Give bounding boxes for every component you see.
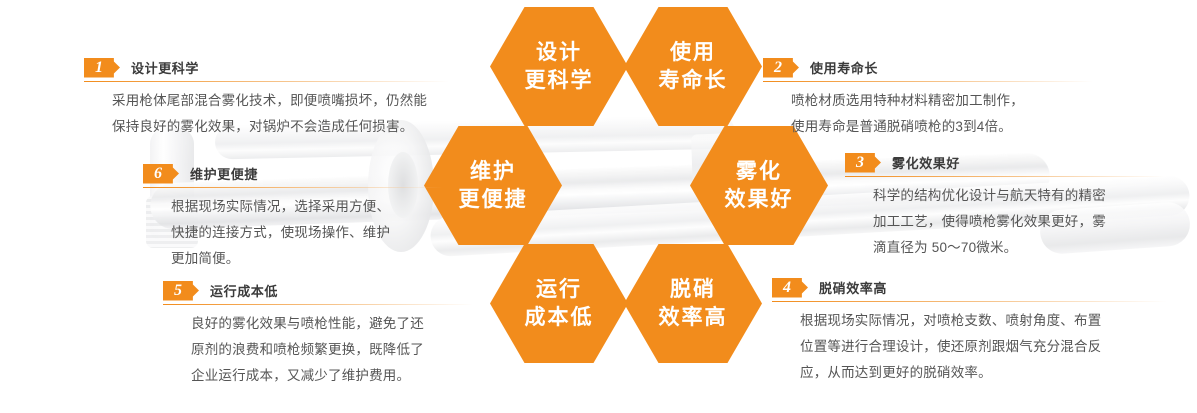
feature-block-6: 6 维护更便捷 根据现场实际情况，选择采用方便、 快捷的连接方式，使现场操作、维… bbox=[143, 163, 443, 272]
feature-6-title: 维护更便捷 bbox=[190, 164, 258, 183]
hexagon-design-line2: 更科学 bbox=[525, 67, 594, 94]
hexagon-maintenance-line1: 维护 bbox=[470, 158, 516, 185]
hexagon-atomization-line2: 效果好 bbox=[725, 186, 794, 213]
feature-2-body-line: 使用寿命是普通脱硝喷枪的3到4倍。 bbox=[791, 114, 1093, 140]
feature-block-1: 1 设计更科学 采用枪体尾部混合雾化技术，即便喷嘴损坏，仍然能 保持良好的雾化效… bbox=[84, 57, 449, 140]
hexagon-lifespan-line2: 寿命长 bbox=[659, 67, 728, 94]
hexagon-cost-line2: 成本低 bbox=[525, 304, 594, 331]
hexagon-cost[interactable]: 运行 成本低 bbox=[490, 244, 628, 363]
hexagon-atomization[interactable]: 雾化 效果好 bbox=[690, 126, 828, 245]
feature-2-divider bbox=[763, 81, 1093, 82]
feature-3-head: 3 雾化效果好 bbox=[845, 152, 1165, 173]
hexagon-lifespan-line1: 使用 bbox=[670, 39, 716, 66]
feature-3-body-line: 加工工艺，使得喷枪雾化效果更好，雾 bbox=[873, 209, 1165, 235]
feature-4-body-line: 应，从而达到更好的脱硝效率。 bbox=[800, 360, 1167, 386]
feature-4-number-badge: 4 bbox=[772, 278, 808, 298]
hexagon-denitration-line1: 脱硝 bbox=[670, 276, 716, 303]
feature-5-divider bbox=[163, 304, 473, 305]
feature-5-body-line: 原剂的浪费和喷枪频繁更换，既降低了 bbox=[191, 337, 473, 363]
feature-6-body-line: 快捷的连接方式，使现场操作、维护 bbox=[171, 220, 443, 246]
feature-6-number-badge: 6 bbox=[143, 164, 179, 184]
feature-6-body: 根据现场实际情况，选择采用方便、 快捷的连接方式，使现场操作、维护 更加简便。 bbox=[143, 194, 443, 272]
hexagon-denitration-line2: 效率高 bbox=[659, 304, 728, 331]
feature-5-title: 运行成本低 bbox=[210, 281, 278, 300]
hexagon-design[interactable]: 设计 更科学 bbox=[490, 7, 628, 126]
feature-6-head: 6 维护更便捷 bbox=[143, 163, 443, 184]
feature-3-body-line: 科学的结构优化设计与航天特有的精密 bbox=[873, 183, 1165, 209]
feature-5-body-line: 良好的雾化效果与喷枪性能，避免了还 bbox=[191, 311, 473, 337]
feature-4-body-line: 根据现场实际情况，对喷枪支数、喷射角度、布置 bbox=[800, 308, 1167, 334]
feature-1-head: 1 设计更科学 bbox=[84, 57, 449, 78]
hexagon-lifespan[interactable]: 使用 寿命长 bbox=[624, 7, 762, 126]
feature-1-divider bbox=[84, 81, 449, 82]
feature-block-2: 2 使用寿命长 喷枪材质选用特种材料精密加工制作， 使用寿命是普通脱硝喷枪的3到… bbox=[763, 57, 1093, 140]
hexagon-maintenance-line2: 更便捷 bbox=[459, 186, 528, 213]
feature-5-body: 良好的雾化效果与喷枪性能，避免了还 原剂的浪费和喷枪频繁更换，既降低了 企业运行… bbox=[163, 311, 473, 389]
feature-1-body-line: 采用枪体尾部混合雾化技术，即便喷嘴损坏，仍然能 bbox=[112, 88, 449, 114]
feature-3-divider bbox=[845, 176, 1165, 177]
feature-3-number-badge: 3 bbox=[845, 153, 881, 173]
feature-1-body-line: 保持良好的雾化效果，对锅炉不会造成任何损害。 bbox=[112, 114, 449, 140]
hexagon-maintenance[interactable]: 维护 更便捷 bbox=[424, 126, 562, 245]
feature-4-divider bbox=[772, 301, 1167, 302]
feature-6-body-line: 更加简便。 bbox=[171, 246, 443, 272]
feature-5-body-line: 企业运行成本，又减少了维护费用。 bbox=[191, 363, 473, 389]
feature-3-body: 科学的结构优化设计与航天特有的精密 加工工艺，使得喷枪雾化效果更好，雾 滴直径为… bbox=[845, 183, 1165, 261]
feature-2-body-line: 喷枪材质选用特种材料精密加工制作， bbox=[791, 88, 1093, 114]
feature-4-head: 4 脱硝效率高 bbox=[772, 277, 1167, 298]
feature-2-title: 使用寿命长 bbox=[810, 58, 878, 77]
feature-3-body-line: 滴直径为 50～70微米。 bbox=[873, 235, 1165, 261]
hexagon-design-line1: 设计 bbox=[536, 39, 582, 66]
feature-4-title: 脱硝效率高 bbox=[819, 278, 887, 297]
feature-5-head: 5 运行成本低 bbox=[163, 280, 473, 301]
hexagon-denitration[interactable]: 脱硝 效率高 bbox=[624, 244, 762, 363]
feature-2-head: 2 使用寿命长 bbox=[763, 57, 1093, 78]
feature-2-number-badge: 2 bbox=[763, 58, 799, 78]
feature-block-4: 4 脱硝效率高 根据现场实际情况，对喷枪支数、喷射角度、布置 位置等进行合理设计… bbox=[772, 277, 1167, 386]
feature-5-number-badge: 5 bbox=[163, 281, 199, 301]
feature-1-number-badge: 1 bbox=[84, 58, 120, 78]
feature-1-body: 采用枪体尾部混合雾化技术，即便喷嘴损坏，仍然能 保持良好的雾化效果，对锅炉不会造… bbox=[84, 88, 449, 140]
feature-4-body: 根据现场实际情况，对喷枪支数、喷射角度、布置 位置等进行合理设计，使还原剂跟烟气… bbox=[772, 308, 1167, 386]
hexagon-cost-line1: 运行 bbox=[536, 276, 582, 303]
feature-3-title: 雾化效果好 bbox=[892, 153, 960, 172]
feature-block-3: 3 雾化效果好 科学的结构优化设计与航天特有的精密 加工工艺，使得喷枪雾化效果更… bbox=[845, 152, 1165, 261]
feature-1-title: 设计更科学 bbox=[131, 58, 199, 77]
feature-2-body: 喷枪材质选用特种材料精密加工制作， 使用寿命是普通脱硝喷枪的3到4倍。 bbox=[763, 88, 1093, 140]
feature-block-5: 5 运行成本低 良好的雾化效果与喷枪性能，避免了还 原剂的浪费和喷枪频繁更换，既… bbox=[163, 280, 473, 389]
feature-4-body-line: 位置等进行合理设计，使还原剂跟烟气充分混合反 bbox=[800, 334, 1167, 360]
feature-6-body-line: 根据现场实际情况，选择采用方便、 bbox=[171, 194, 443, 220]
feature-6-divider bbox=[143, 187, 443, 188]
infographic-root: 设计 更科学 使用 寿命长 维护 更便捷 雾化 效果好 运行 成本低 脱硝 效率… bbox=[0, 0, 1197, 413]
hexagon-atomization-line1: 雾化 bbox=[736, 158, 782, 185]
